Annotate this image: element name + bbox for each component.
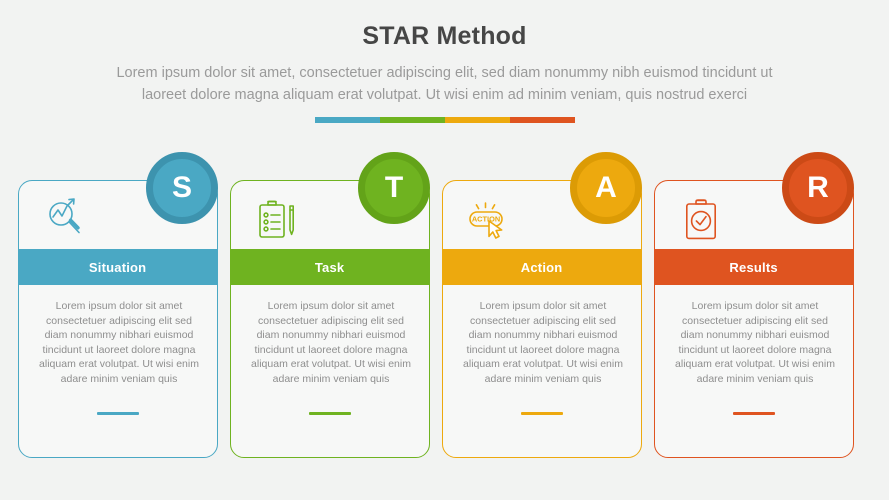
card-body-text: Lorem ipsum dolor sit amet consectetuer … — [673, 299, 837, 386]
badge-letter: A — [595, 173, 617, 203]
subtitle-line-1: Lorem ipsum dolor sit amet, consectetuer… — [60, 62, 830, 84]
action-button-cursor-icon: ACTION — [465, 195, 513, 243]
card-label-band-action: Action — [442, 249, 642, 285]
clipboard-check-icon — [677, 195, 725, 243]
page-title: STAR Method — [0, 22, 889, 51]
divider-segment-3 — [445, 117, 510, 123]
color-divider-bar — [315, 117, 575, 123]
divider-segment-4 — [510, 117, 575, 123]
badge-letter: R — [807, 173, 829, 203]
card-label: Situation — [89, 260, 146, 275]
card-label-band-results: Results — [654, 249, 854, 285]
card-letter-badge-t[interactable]: T — [358, 152, 430, 224]
badge-letter: T — [385, 173, 403, 203]
card-body-text: Lorem ipsum dolor sit amet consectetuer … — [37, 299, 201, 386]
card-label: Action — [521, 260, 563, 275]
divider-segment-1 — [315, 117, 380, 123]
magnifier-chart-icon — [41, 195, 89, 243]
card-letter-badge-a[interactable]: A — [570, 152, 642, 224]
svg-text:ACTION: ACTION — [472, 215, 500, 224]
card-label: Task — [315, 260, 344, 275]
card-accent-dash — [309, 412, 351, 416]
card-letter-badge-r[interactable]: R — [782, 152, 854, 224]
card-body-text: Lorem ipsum dolor sit amet consectetuer … — [461, 299, 625, 386]
subtitle-line-2: laoreet dolore magna aliquam erat volutp… — [60, 84, 830, 106]
infographic-canvas: STAR Method Lorem ipsum dolor sit amet, … — [0, 0, 889, 500]
card-body-text: Lorem ipsum dolor sit amet consectetuer … — [249, 299, 413, 386]
card-accent-dash — [97, 412, 139, 416]
badge-letter: S — [172, 173, 192, 203]
divider-segment-2 — [380, 117, 445, 123]
card-accent-dash — [521, 412, 563, 416]
card-label-band-task: Task — [230, 249, 430, 285]
card-label: Results — [729, 260, 777, 275]
page-subtitle: Lorem ipsum dolor sit amet, consectetuer… — [60, 62, 830, 106]
card-letter-badge-s[interactable]: S — [146, 152, 218, 224]
card-accent-dash — [733, 412, 775, 416]
card-label-band-situation: Situation — [18, 249, 218, 285]
clipboard-checklist-pencil-icon — [253, 195, 301, 243]
